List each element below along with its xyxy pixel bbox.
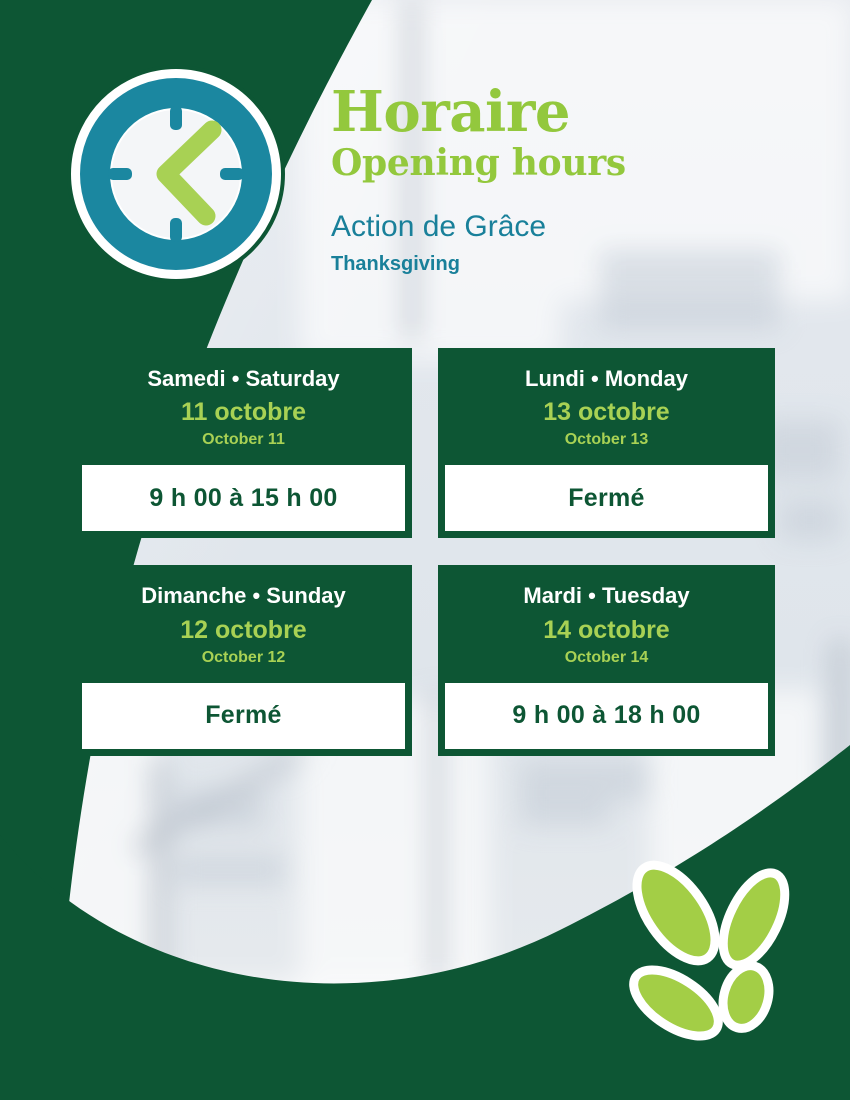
holiday-name-fr: Action de Grâce: [331, 210, 771, 243]
card-date-en: October 11: [85, 430, 402, 449]
card-date-en: October 12: [85, 648, 402, 667]
card-hours: 9 h 00 à 15 h 00: [149, 484, 337, 513]
card-hours: Fermé: [568, 484, 645, 513]
schedule-card-header: Dimanche • Sunday 12 octobre October 12: [75, 565, 412, 680]
opening-hours-poster: Horaire Opening hours Action de Grâce Th…: [0, 0, 850, 1100]
card-date-fr: 12 octobre: [85, 615, 402, 645]
card-day-label: Samedi • Saturday: [85, 366, 402, 391]
card-day-label: Dimanche • Sunday: [85, 583, 402, 608]
card-date-fr: 13 octobre: [448, 397, 765, 427]
title-block: Horaire Opening hours Action de Grâce Th…: [331, 84, 771, 275]
schedule-card-header: Lundi • Monday 13 octobre October 13: [438, 348, 775, 463]
card-date-fr: 14 octobre: [448, 615, 765, 645]
card-date-en: October 13: [448, 430, 765, 449]
schedule-card-hours-panel: 9 h 00 à 18 h 00: [443, 681, 770, 751]
page-title-en: Opening hours: [331, 144, 771, 184]
schedule-card: Mardi • Tuesday 14 octobre October 14 9 …: [438, 565, 775, 755]
schedule-card-hours-panel: Fermé: [443, 463, 770, 533]
card-date-fr: 11 octobre: [85, 397, 402, 427]
schedule-card-hours-panel: Fermé: [80, 681, 407, 751]
card-hours: 9 h 00 à 18 h 00: [512, 701, 700, 730]
clock-icon: [66, 64, 286, 284]
card-day-label: Lundi • Monday: [448, 366, 765, 391]
card-date-en: October 14: [448, 648, 765, 667]
card-day-label: Mardi • Tuesday: [448, 583, 765, 608]
schedule-card-hours-panel: 9 h 00 à 15 h 00: [80, 463, 407, 533]
schedule-card: Lundi • Monday 13 octobre October 13 Fer…: [438, 348, 775, 538]
card-hours: Fermé: [205, 701, 282, 730]
butterfly-logo-icon: [614, 855, 814, 1060]
page-title-fr: Horaire: [331, 84, 771, 140]
schedule-card: Samedi • Saturday 11 octobre October 11 …: [75, 348, 412, 538]
schedule-card-header: Samedi • Saturday 11 octobre October 11: [75, 348, 412, 463]
schedule-card-header: Mardi • Tuesday 14 octobre October 14: [438, 565, 775, 680]
schedule-card-grid: Samedi • Saturday 11 octobre October 11 …: [75, 348, 775, 756]
holiday-name-en: Thanksgiving: [331, 253, 771, 275]
schedule-card: Dimanche • Sunday 12 octobre October 12 …: [75, 565, 412, 755]
